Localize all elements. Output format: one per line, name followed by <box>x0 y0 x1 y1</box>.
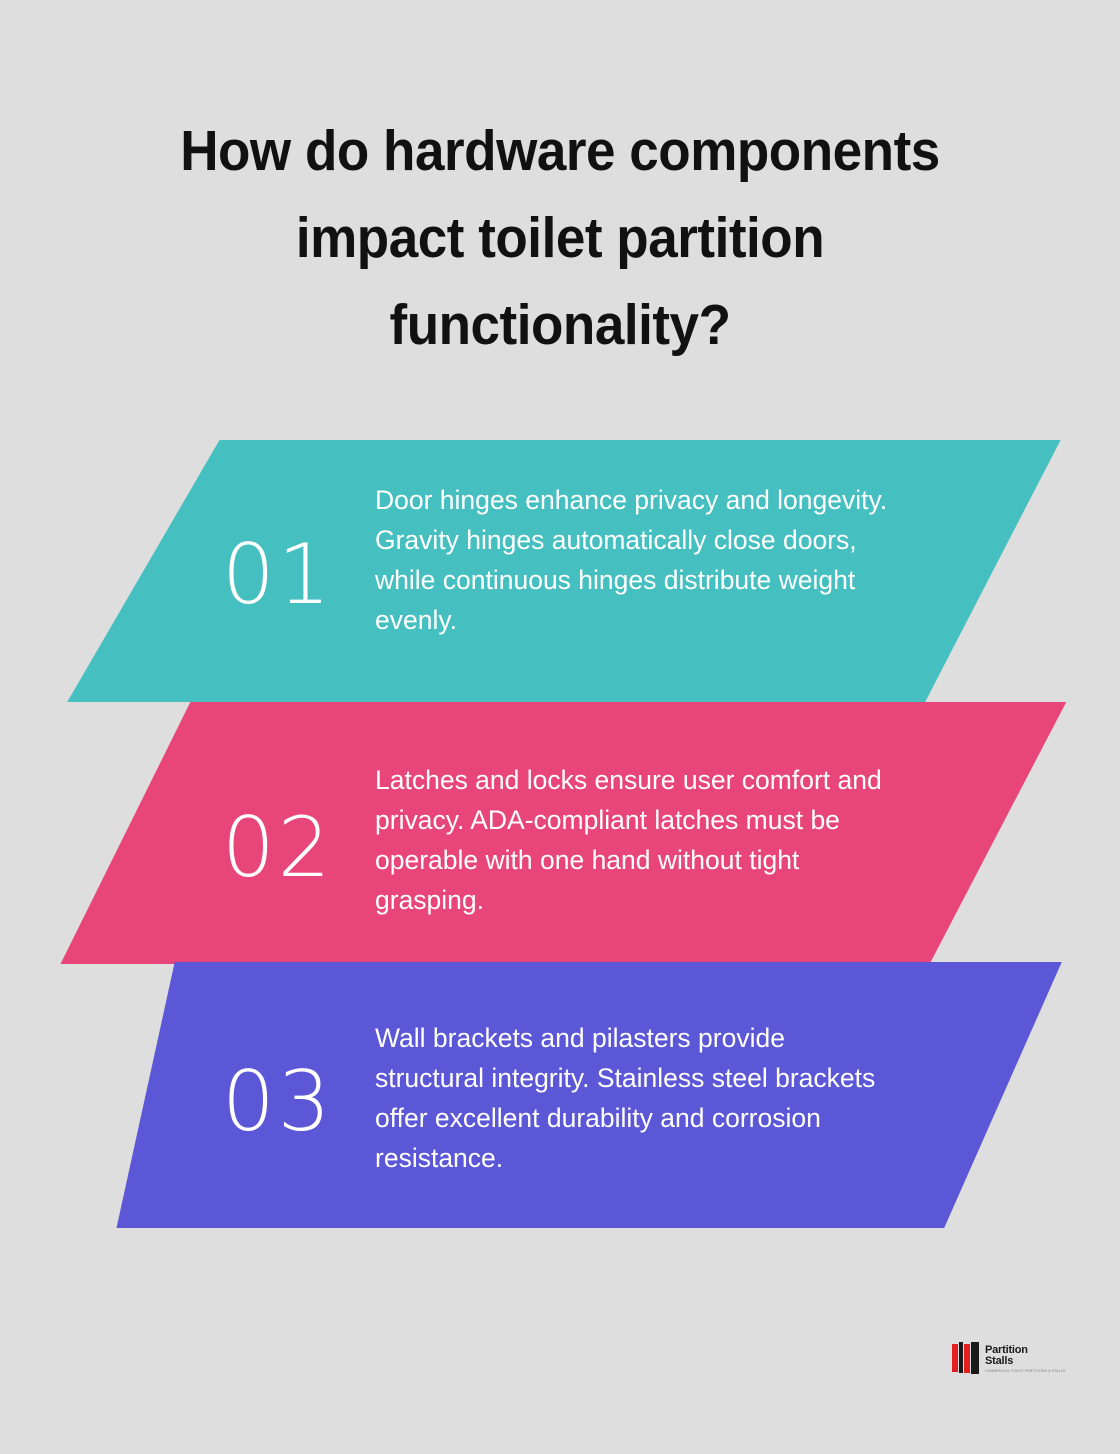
step-number-02: 02 <box>222 806 334 889</box>
step-number-01: 01 <box>222 533 334 616</box>
brand-logo-text: Partition Stalls COMMERCIAL TOILET PARTI… <box>985 1345 1065 1374</box>
step-number-03: 03 <box>222 1060 334 1143</box>
step-text-03: Wall brackets and pilasters provide stru… <box>375 1018 895 1178</box>
step-text-02: Latches and locks ensure user comfort an… <box>375 760 895 920</box>
brand-tagline: COMMERCIAL TOILET PARTITIONS & STALLS <box>985 1369 1065 1374</box>
brand-name-line-2: Stalls <box>985 1356 1065 1368</box>
partition-panels-icon <box>952 1342 980 1376</box>
step-text-01: Door hinges enhance privacy and longevit… <box>375 480 895 640</box>
brand-logo: Partition Stalls COMMERCIAL TOILET PARTI… <box>952 1333 1052 1385</box>
